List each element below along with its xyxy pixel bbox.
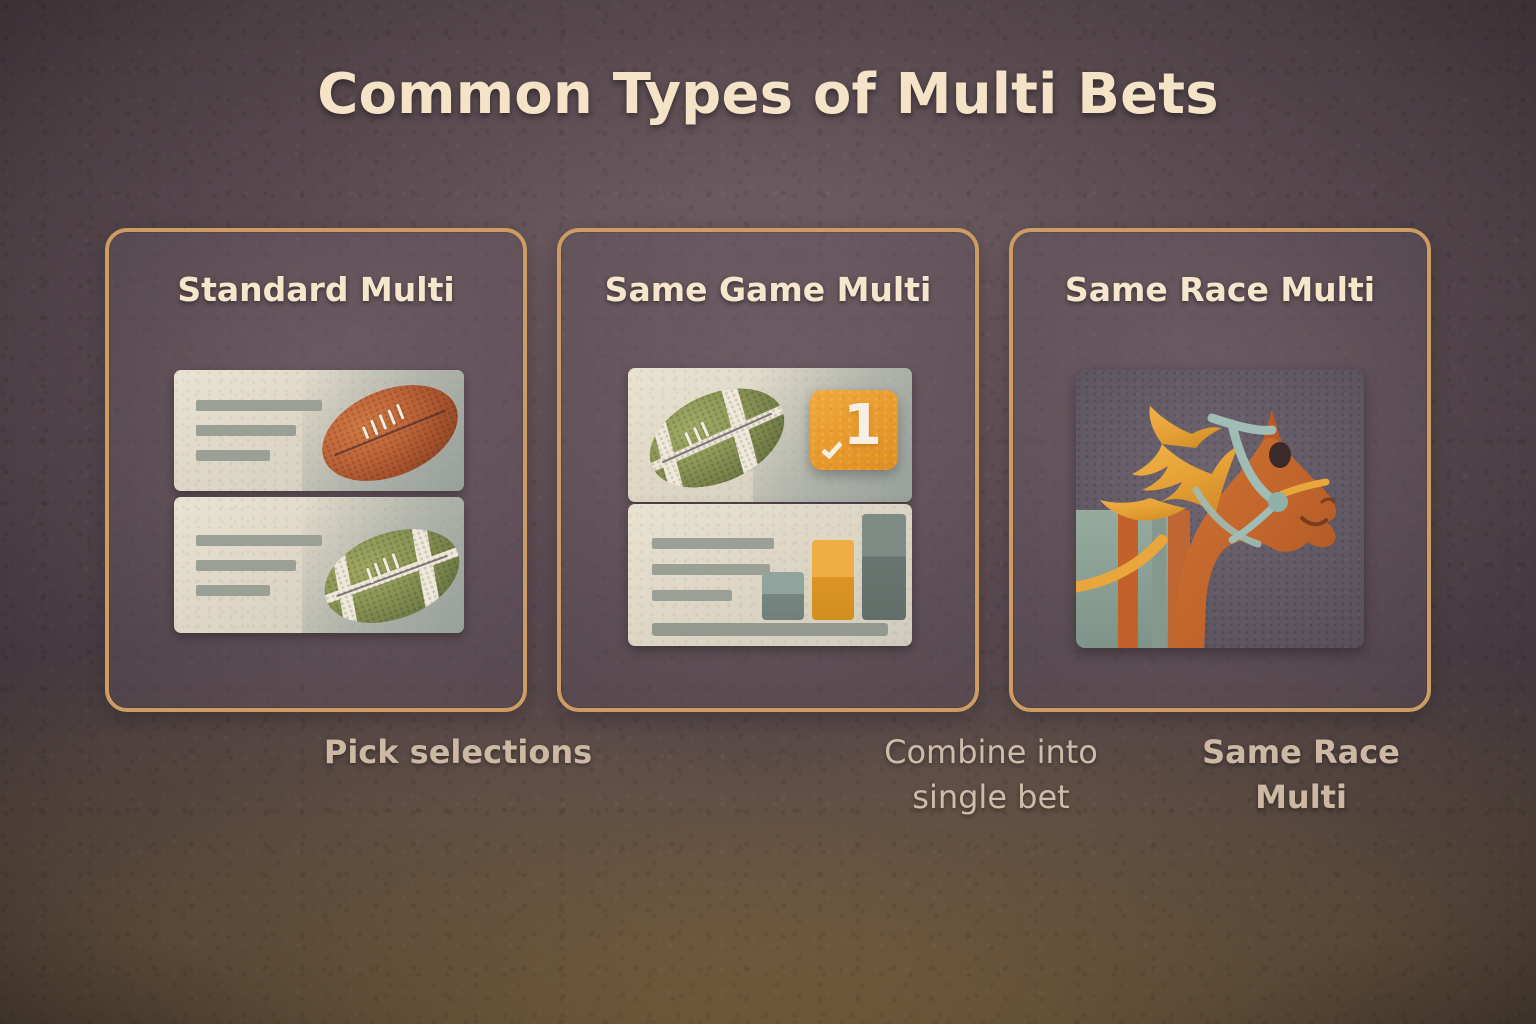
card-title-standard-multi: Standard Multi	[109, 270, 523, 309]
placeholder-line	[196, 450, 270, 461]
horse-head-shape	[1175, 414, 1336, 648]
horse-eye	[1269, 442, 1291, 468]
illustration-bet-slip-with-stats: 1	[618, 364, 918, 654]
caption-same-race-multi: Same Race Multi	[1171, 730, 1431, 860]
card-title-same-game-multi: Same Game Multi	[561, 270, 975, 309]
badge-number: 1	[843, 398, 882, 454]
placeholder-line	[196, 400, 322, 411]
horse-photo-frame	[1076, 370, 1364, 648]
placeholder-line	[196, 425, 296, 436]
card-title-same-race-multi: Same Race Multi	[1013, 270, 1427, 309]
chart-bar-2	[812, 540, 854, 620]
caption-standard-multi: Pick selections	[105, 730, 811, 860]
chart-baseline	[652, 623, 888, 636]
placeholder-line	[196, 585, 270, 596]
illustration-two-stacked-bet-slips	[166, 364, 466, 654]
bet-slip-bottom	[174, 497, 464, 633]
horse-head-icon	[1076, 370, 1364, 648]
card-same-race-multi[interactable]: Same Race Multi	[1009, 228, 1431, 712]
chart-bar-1	[762, 572, 804, 620]
page-title: Common Types of Multi Bets	[0, 62, 1536, 127]
card-standard-multi[interactable]: Standard Multi	[105, 228, 527, 712]
bet-slip-upper-panel: 1	[628, 368, 912, 502]
placeholder-line	[652, 564, 770, 575]
card-same-game-multi[interactable]: Same Game Multi	[557, 228, 979, 712]
placeholder-line	[196, 560, 296, 571]
chart-bar-3	[862, 514, 906, 620]
selection-badge[interactable]: 1	[810, 390, 898, 470]
bridle-ring	[1268, 492, 1288, 512]
caption-row: Pick selections Combine into single bet …	[105, 730, 1431, 860]
illustration-racehorse-portrait	[1070, 364, 1370, 654]
placeholder-line	[652, 590, 732, 601]
caption-same-game-multi: Combine into single bet	[841, 730, 1141, 860]
saddle-blanket	[1076, 510, 1190, 648]
bet-slip-lower-panel	[628, 504, 912, 646]
bet-type-card-row: Standard Multi	[105, 228, 1431, 712]
bet-slip-top	[174, 370, 464, 491]
placeholder-line	[196, 535, 322, 546]
placeholder-line	[652, 538, 774, 549]
